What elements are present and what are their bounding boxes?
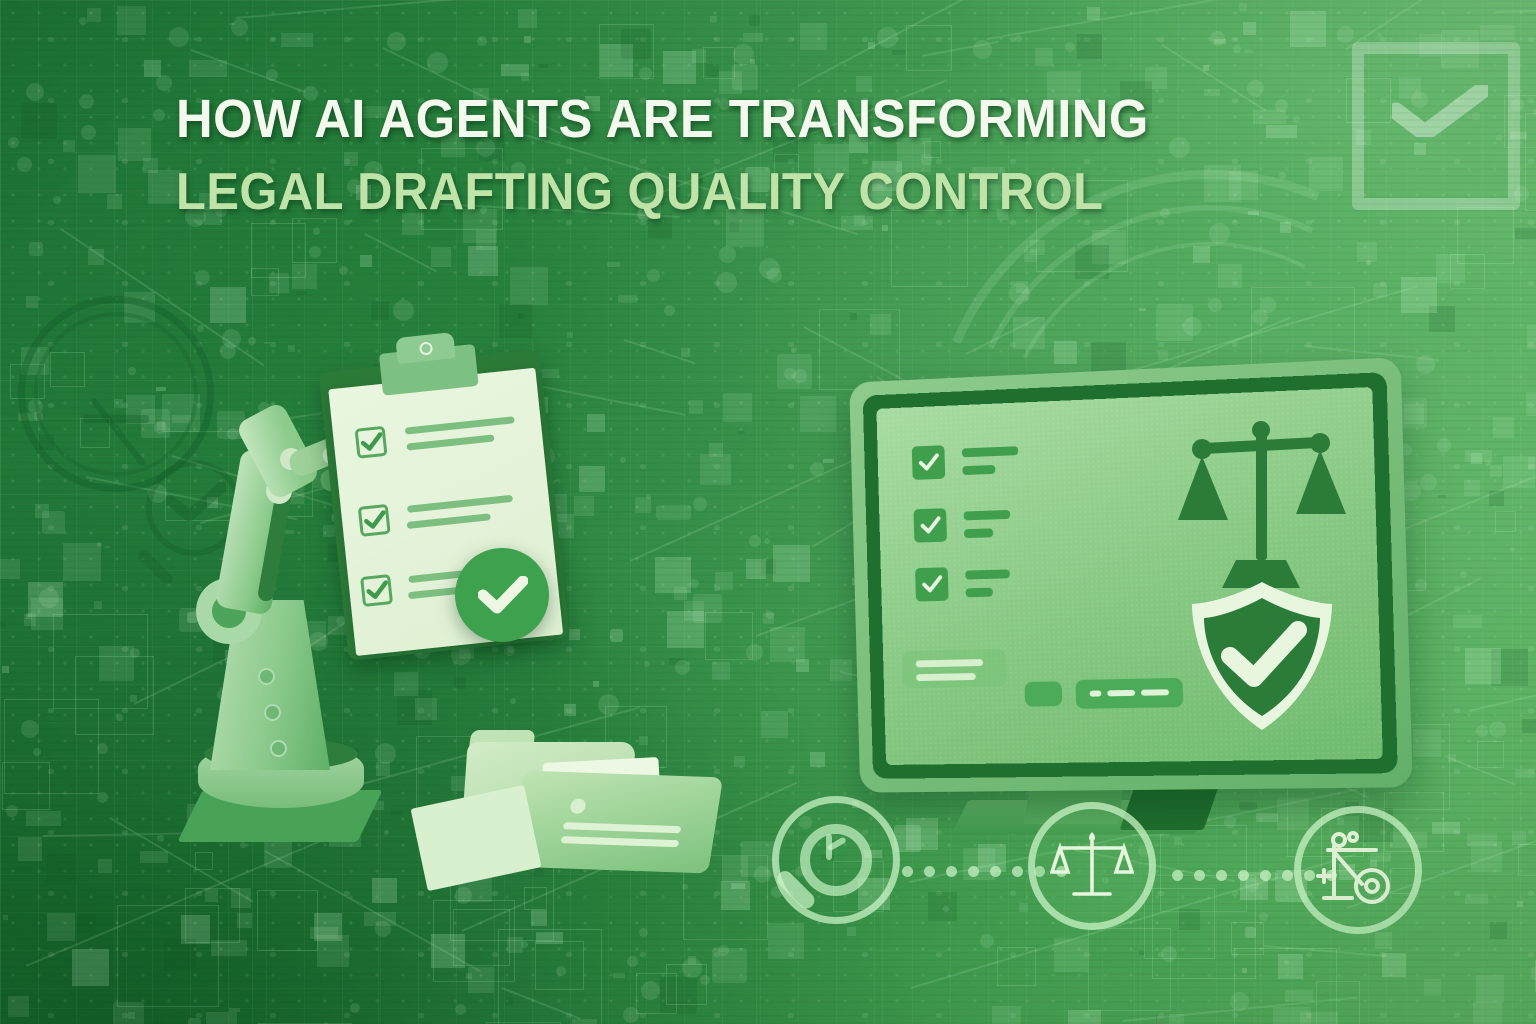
clipboard-check-icon-3	[366, 580, 390, 600]
robot-arm-bolt-1	[258, 668, 275, 685]
screen-text-panel[interactable]	[902, 649, 1007, 689]
folder-label-dot	[569, 798, 586, 814]
robot-arm-bolt-3	[270, 740, 287, 757]
loose-sheet	[411, 785, 542, 891]
screen-check-icon-3	[922, 575, 943, 593]
screen-panel-line-1	[916, 659, 984, 667]
screen-field-line-3	[1141, 689, 1169, 696]
banner-canvas: HOW AI AGENTS ARE TRANSFORMING LEGAL DRA…	[0, 0, 1536, 1024]
screen-text-line-2a	[964, 510, 1011, 520]
illustration-scene	[0, 0, 1536, 1024]
approval-check-icon	[478, 576, 528, 614]
clipboard-check-icon-2	[363, 510, 387, 530]
robot-arm-bolt-2	[264, 704, 281, 721]
folder-label-line-1	[563, 822, 682, 833]
gavel-balance-glyph	[1316, 828, 1402, 914]
legal-balance-scales-glyph	[1050, 826, 1134, 908]
screen-small-button[interactable]	[1024, 681, 1062, 706]
screen-panel-line-2	[916, 673, 976, 681]
screen-text-line-2b	[964, 528, 993, 538]
screen-field-line-1	[1089, 690, 1101, 696]
screen-check-icon-1	[919, 453, 940, 471]
screen-text-line-1b	[962, 465, 995, 475]
clipboard-text-line-2a	[407, 495, 513, 513]
clipboard-text-line-2b	[407, 513, 491, 529]
shield-check-icon	[1186, 578, 1338, 734]
screen-field-line-2	[1107, 690, 1135, 697]
clipboard-text-line-1a	[405, 416, 515, 434]
screen-text-line-3a	[965, 569, 1010, 579]
magnifier-clock-inner-ring	[800, 824, 872, 896]
folder-front	[509, 771, 723, 874]
screen-text-line-3b	[966, 588, 993, 598]
clipboard-check-icon-1	[360, 432, 384, 452]
clipboard-text-line-1b	[406, 434, 494, 450]
screen-wide-field[interactable]	[1075, 678, 1183, 709]
folder-label-line-2	[561, 836, 680, 847]
screen-check-icon-2	[920, 516, 941, 534]
document-folders	[408, 726, 688, 886]
